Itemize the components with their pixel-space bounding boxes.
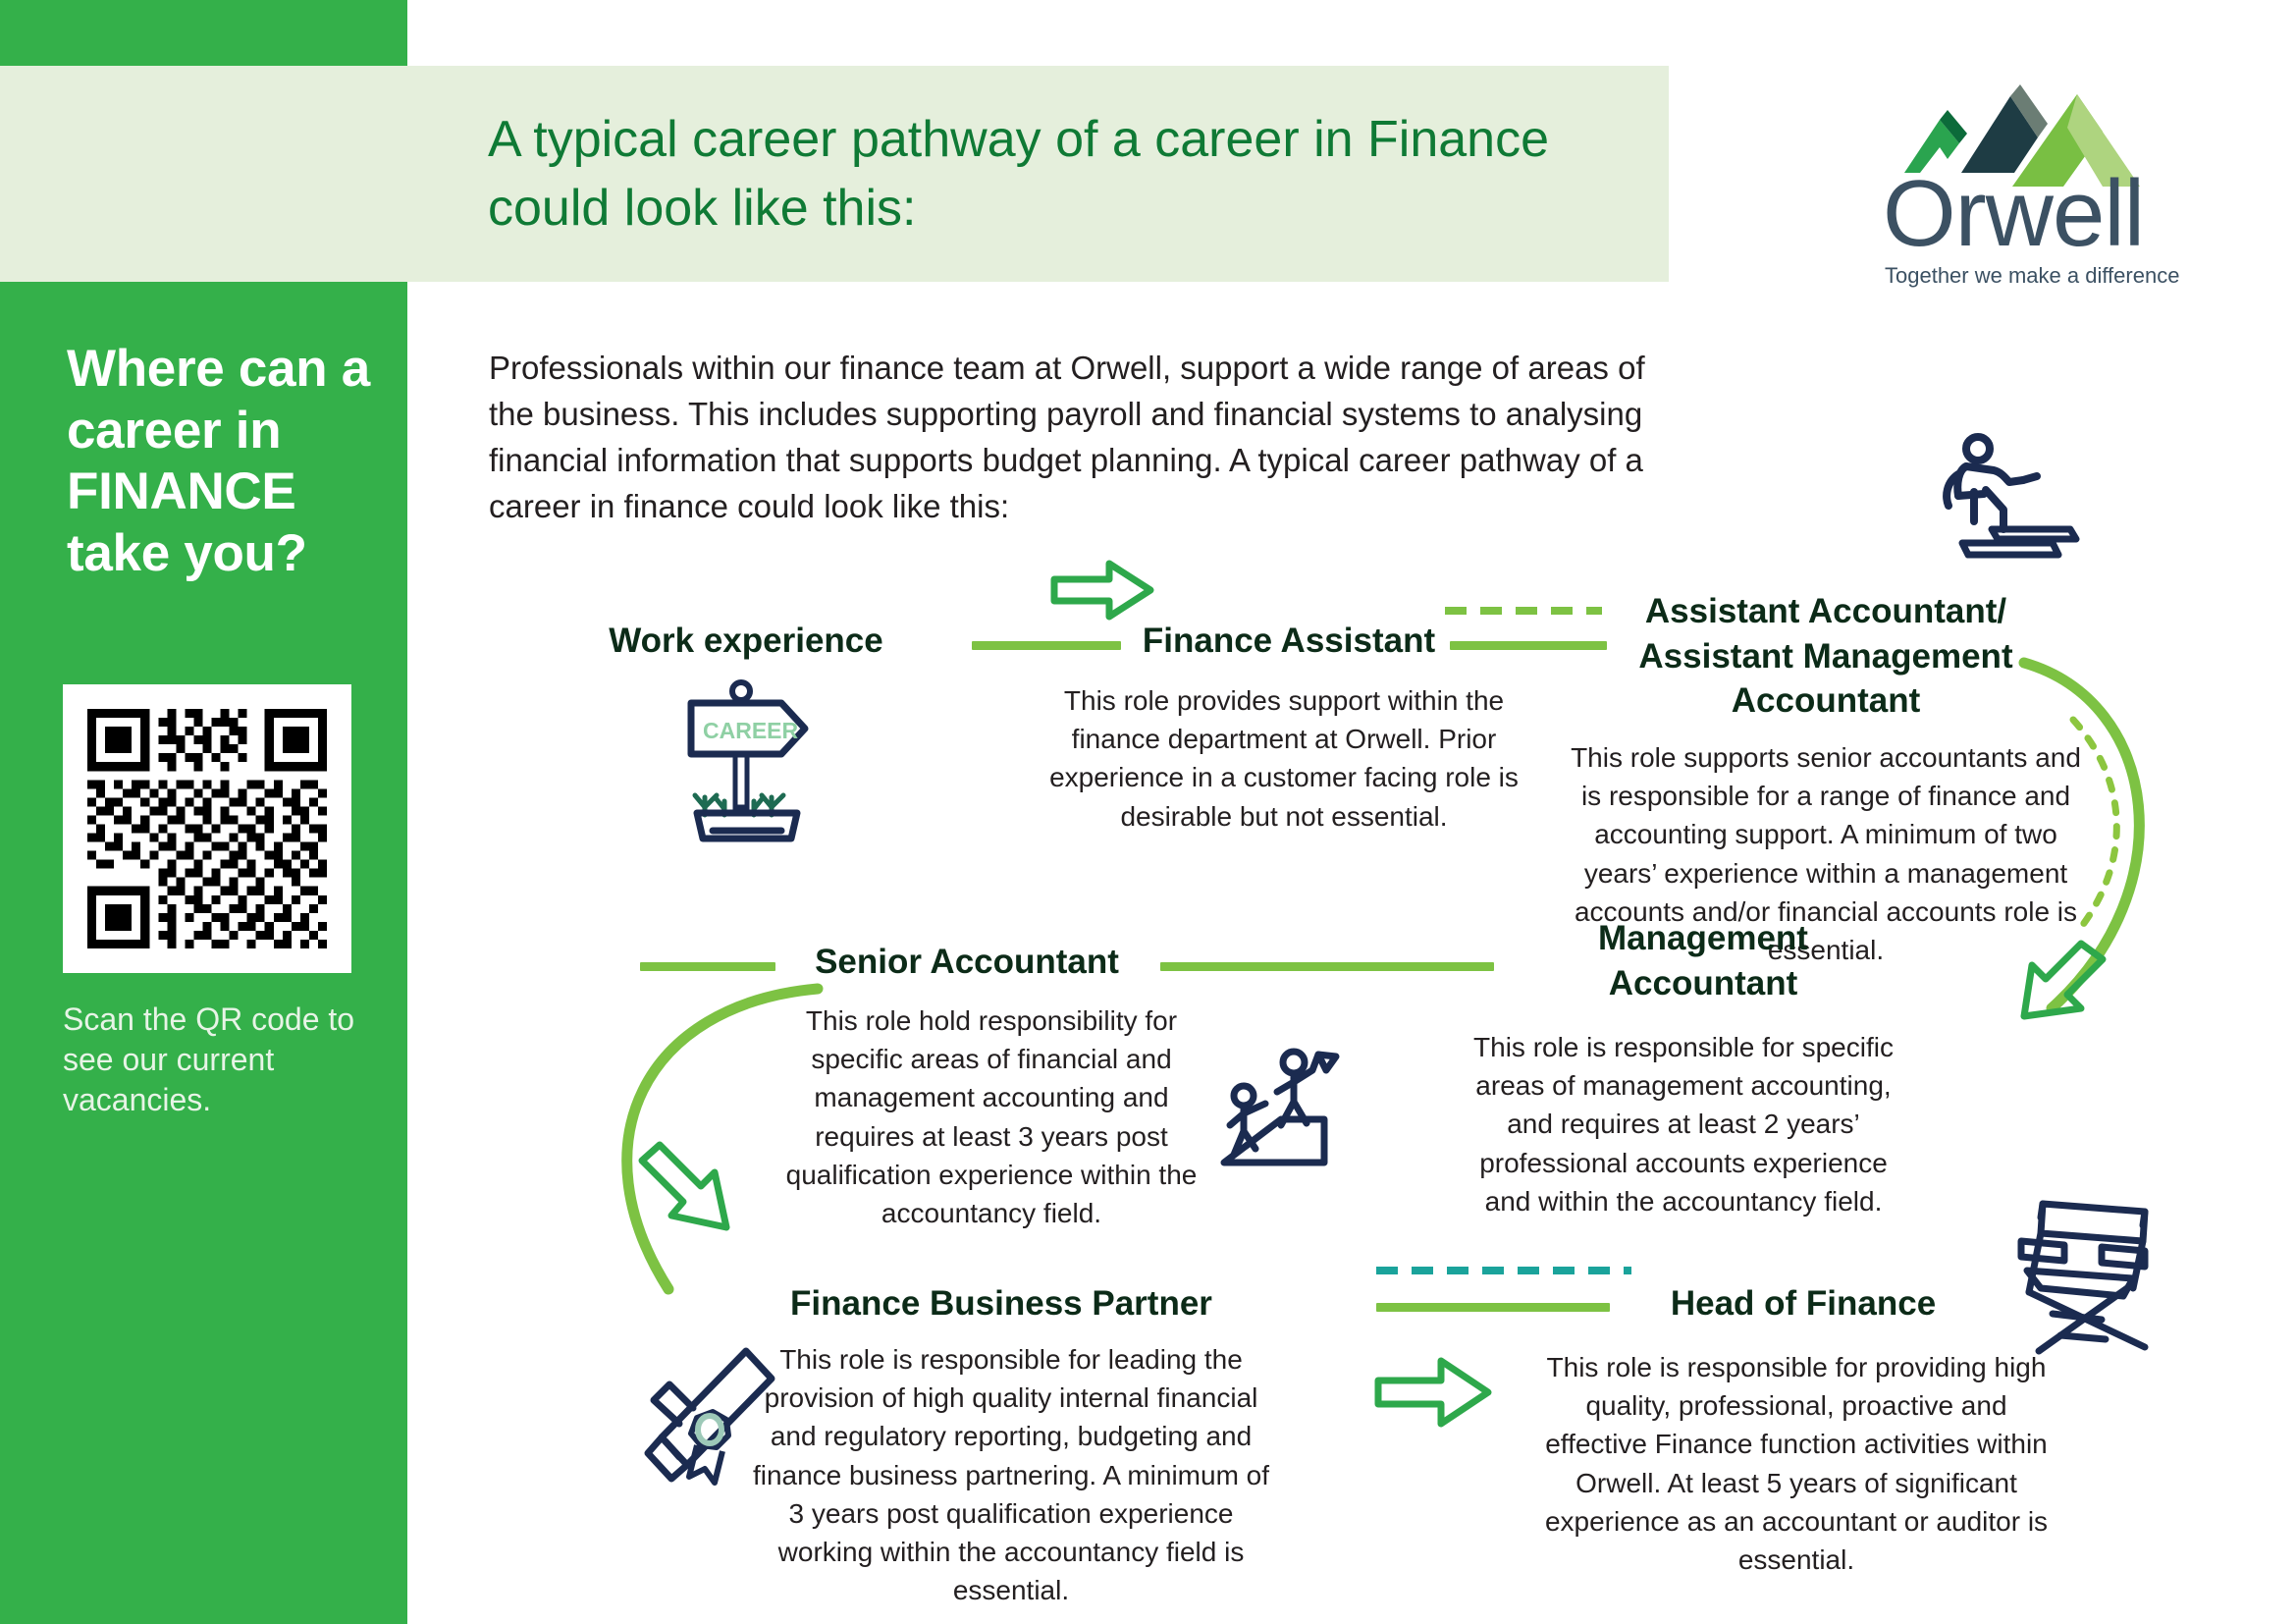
page-title: A typical career pathway of a career in …: [488, 106, 1568, 243]
arrow-down-left-icon: [1993, 938, 2110, 1046]
step-body-senior-accountant: This role hold responsibility for specif…: [785, 1001, 1198, 1232]
person-climbing-books-icon: [1929, 427, 2086, 569]
svg-text:CAREER: CAREER: [703, 718, 799, 743]
connector-rule-work-to-assistant: [972, 641, 1121, 650]
arrow-right-icon-1: [1048, 556, 1156, 624]
step-body-management-accountant: This role is responsible for specific ar…: [1453, 1028, 1914, 1220]
connector-rule-senior-to-management: [1160, 962, 1494, 971]
connector-rule-left-to-senior: [640, 962, 775, 971]
logo-wordmark: Orwell: [1883, 161, 2144, 266]
connector-dash-assistant-to-aa: [1445, 607, 1602, 615]
diploma-scroll-icon: [636, 1345, 783, 1502]
step-body-head-of-finance: This role is responsible for providing h…: [1541, 1348, 2052, 1579]
step-title-work-experience: Work experience: [589, 619, 903, 664]
step-title-senior-accountant: Senior Accountant: [785, 940, 1148, 985]
career-signpost-icon: CAREER: [673, 677, 821, 844]
step-body-finance-business-partner: This role is responsible for leading the…: [746, 1340, 1276, 1609]
two-people-climbing-icon: [1220, 1041, 1362, 1178]
step-title-assistant-accountant: Assistant Accountant/ Assistant Manageme…: [1610, 589, 2042, 724]
step-title-finance-assistant: Finance Assistant: [1127, 619, 1451, 664]
step-body-finance-assistant: This role provides support within the fi…: [1048, 681, 1520, 836]
orwell-logo: Orwell Together we make a difference: [1845, 57, 2209, 298]
sidebar-heading: Where can a career in FINANCE take you?: [67, 339, 391, 584]
connector-dash-to-head-of-finance: [1376, 1267, 1631, 1274]
arrow-down-right-icon: [626, 1139, 744, 1257]
qr-code[interactable]: [63, 684, 351, 973]
step-title-management-accountant: Management Accountant: [1517, 916, 1890, 1005]
step-title-head-of-finance: Head of Finance: [1641, 1281, 1965, 1326]
arrow-right-icon-2: [1372, 1353, 1495, 1432]
directors-chair-icon: [2007, 1190, 2169, 1367]
logo-tagline: Together we make a difference: [1885, 263, 2179, 288]
connector-rule-assistant-to-aa: [1450, 641, 1607, 650]
step-title-finance-business-partner: Finance Business Partner: [766, 1281, 1237, 1326]
qr-code-icon: [79, 700, 336, 957]
intro-paragraph: Professionals within our finance team at…: [489, 346, 1647, 529]
connector-rule-to-head-of-finance: [1376, 1303, 1610, 1312]
qr-caption: Scan the QR code to see our current vaca…: [63, 1000, 377, 1120]
